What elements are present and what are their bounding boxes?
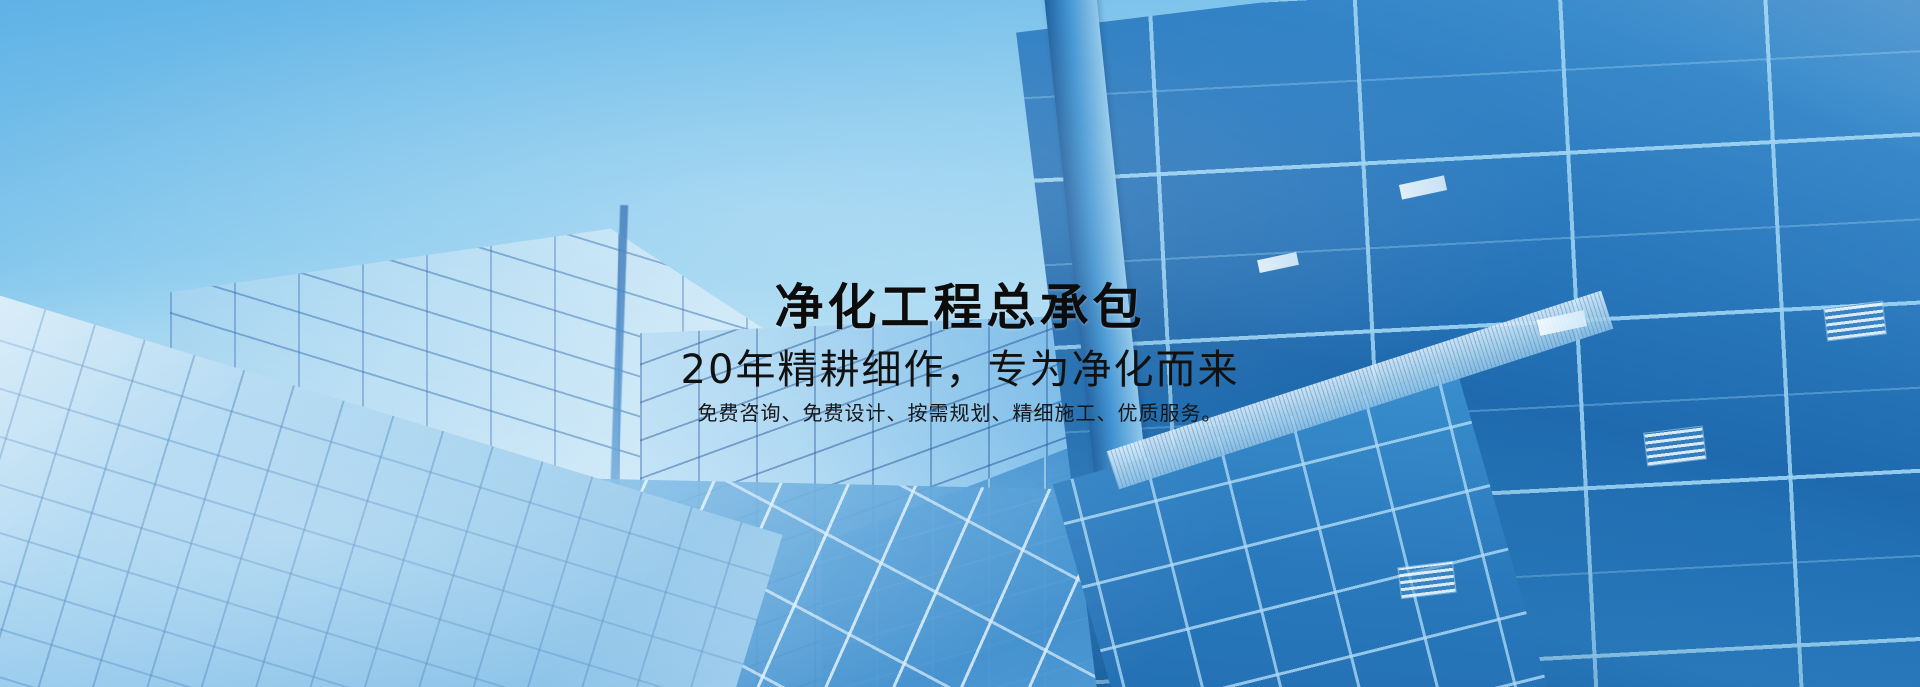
- banner-headline: 净化工程总承包: [40, 282, 1880, 334]
- hero-banner: 净化工程总承包 20年精耕细作，专为净化而来 免费咨询、免费设计、按需规划、精细…: [0, 0, 1920, 687]
- hero-copy-block: 净化工程总承包 20年精耕细作，专为净化而来 免费咨询、免费设计、按需规划、精细…: [0, 282, 1920, 426]
- banner-subheadline: 20年精耕细作，专为净化而来: [40, 348, 1880, 392]
- banner-description: 免费咨询、免费设计、按需规划、精细施工、优质服务。: [40, 400, 1880, 426]
